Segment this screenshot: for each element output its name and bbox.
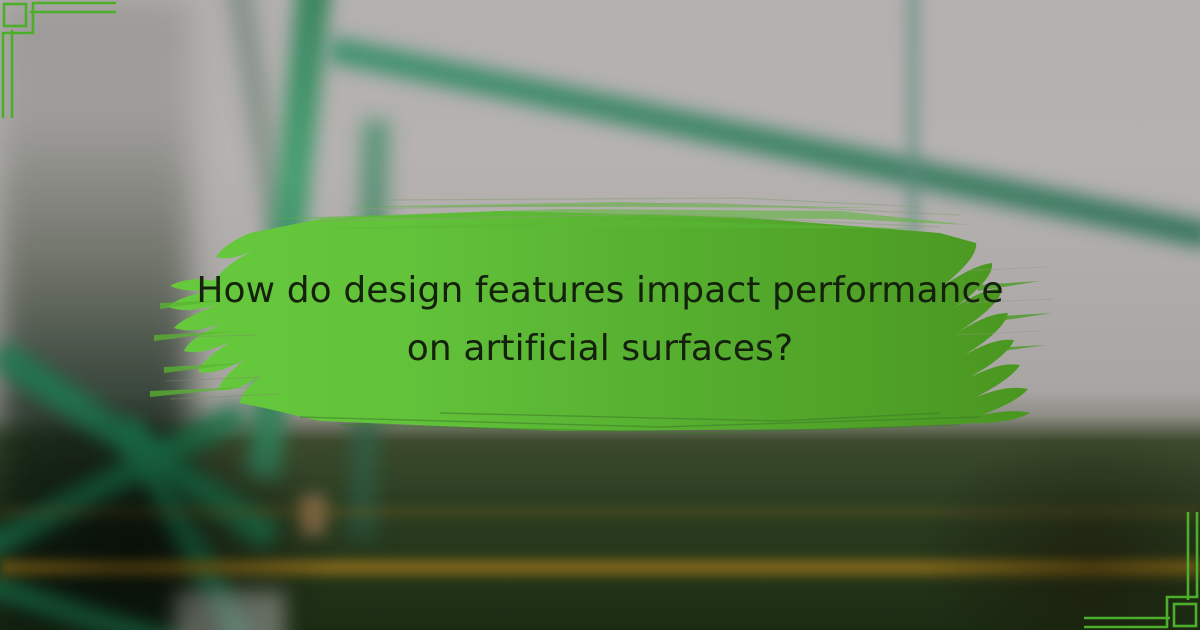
page-title: How do design features impact performanc… — [185, 262, 1015, 379]
question-banner-card: How do design features impact performanc… — [0, 0, 1200, 630]
corner-frame-bottom-right-icon — [1080, 510, 1200, 630]
corner-frame-top-left-icon — [0, 0, 120, 120]
